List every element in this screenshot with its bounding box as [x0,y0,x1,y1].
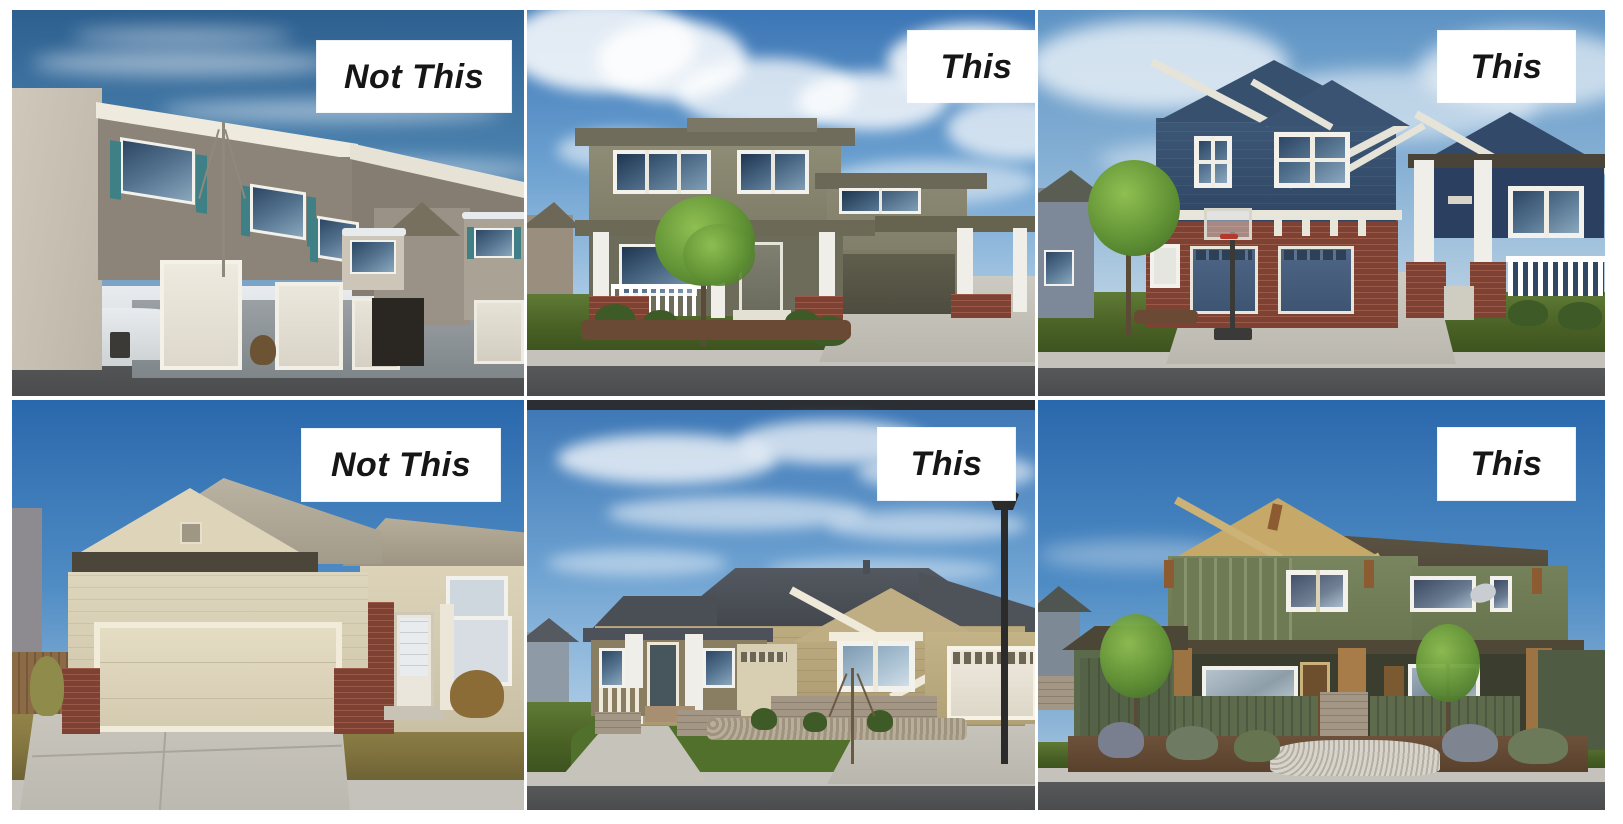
cloud-wisp [72,28,292,44]
window-mullion [1211,136,1215,188]
belly-band [1150,210,1402,220]
garage-window-lites [1196,250,1252,260]
rock-bed [707,718,967,740]
window-mullion [873,640,878,692]
cloud [827,510,1027,540]
lavender-shrub [1442,724,1498,762]
house-number [1448,196,1472,204]
panel-top-center[interactable]: This [527,10,1035,396]
chip-text: Not This [344,60,484,94]
label-chip-not-this-2: Not This [302,429,500,501]
porch-brick-base [1470,262,1506,318]
neighbor-house [12,508,42,668]
basketball-pole [1230,232,1235,332]
sapling-crown [1416,624,1480,702]
panel-bottom-right[interactable]: This [1038,400,1605,810]
garage-door-panel-line [100,662,336,663]
bare-tree-trunk [222,122,225,277]
top-dark-band [527,400,1035,410]
porch-column [1414,160,1434,276]
window-mullion [1274,158,1350,162]
brick-wainscot [951,294,1011,318]
board-and-batten [1172,558,1292,644]
garage-door [160,260,242,370]
porch-window [599,648,625,688]
door-lite [400,618,428,676]
lavender-shrub [1508,728,1568,764]
window-mullion [645,150,649,194]
far-window [474,228,514,258]
chip-text: Not This [331,448,471,482]
shrub [1558,302,1602,330]
cloud [547,550,727,576]
upper-window [250,184,306,241]
trash-bin [110,332,130,358]
neighbor-stone [1038,676,1074,710]
mulch-bed [581,320,851,340]
stone-wainscot [595,712,641,734]
tree-crown [683,224,755,286]
lavender-shrub [1166,726,1218,760]
gable-shadow-band [72,552,318,574]
garage-window-lites [953,652,1033,664]
garage-door [275,282,343,370]
garage-door-panel-line [100,698,336,699]
shrub [250,335,276,365]
end-wall [12,88,102,370]
dry-shrub [450,670,504,718]
rock-swale [1270,740,1440,776]
garage-wing-roof [815,173,987,189]
porch-column [1474,160,1492,276]
label-chip-this-1: This [908,31,1035,102]
panel-top-right[interactable]: This [1038,10,1605,396]
roof-snow [462,212,524,219]
secondary-gable [1254,80,1410,126]
chip-text: This [1471,447,1543,481]
label-chip-this-4: This [1438,428,1575,500]
shrub [1508,300,1548,326]
brick-column [334,668,372,734]
shrub [803,712,827,732]
basketball-hoop-icon [1220,234,1238,239]
bay-window [350,240,396,274]
corbel-bracket [1364,560,1374,588]
porch-steps [1444,286,1474,320]
lamp-post [1001,500,1008,764]
shrub [867,710,893,732]
porch-wing-ceiling [1408,154,1605,168]
window-mullion [1316,570,1320,612]
chip-text: This [911,447,983,481]
panel-bottom-left[interactable]: Not This [12,400,524,810]
shutter [110,140,121,200]
window-mullion [1544,186,1549,238]
corbel [1358,220,1366,236]
label-chip-this-3: This [878,428,1015,500]
garage-window-lites [741,652,787,662]
cloud-wisp [32,50,332,76]
tree-crown [1088,160,1180,256]
sapling-trunk [851,668,854,764]
porch-brick-base [1406,262,1446,318]
corbel [1330,220,1338,236]
corbel [1302,220,1310,236]
upper-window-band-left [613,150,711,194]
comparison-board: Not This [0,0,1623,824]
mulch-bed [1134,310,1198,324]
porte-cochere-column [1013,228,1027,312]
shutter [310,217,318,262]
window-mullion [879,188,882,214]
gable-vent [180,522,202,544]
garage-door [474,300,524,364]
entry-steps [384,706,444,720]
lavender-shrub [1234,730,1280,762]
neighbor-window [1044,250,1074,286]
window-mullion [677,150,681,194]
chip-text: This [1471,50,1543,84]
label-chip-not-this-1: Not This [317,41,511,112]
upper-window [120,137,195,205]
garage-window-lites [1284,250,1346,260]
panel-bottom-center[interactable]: This [527,400,1035,810]
sapling-crown [1100,614,1172,698]
roof-vent [863,560,870,574]
corbel [1274,220,1282,236]
upper-window-right-wide [1410,576,1476,612]
corbel-bracket [1532,568,1542,594]
shutter [514,227,521,259]
dry-shrub [30,656,64,716]
porch-railing [1508,260,1604,296]
basketball-base [1214,328,1252,340]
panel-top-left[interactable]: Not This [12,10,524,396]
garage-door [843,250,955,314]
front-door [647,642,679,714]
upper-roof-cap [687,118,817,132]
window-mullion [771,150,775,194]
lavender-shrub [1098,722,1144,758]
porte-cochere-roof [875,216,1035,232]
shrub [751,708,777,730]
shutter [467,227,474,259]
label-chip-this-2: This [1438,31,1575,102]
corbel-bracket [1164,560,1174,588]
roof-snow [342,228,406,236]
garage-door [94,622,342,732]
brick-column [62,668,100,734]
garage-opening-dark [372,298,424,366]
chip-text: This [941,50,1013,84]
porch-railing-cap [1506,256,1605,262]
window-header [829,632,923,641]
porch-window [703,648,735,688]
